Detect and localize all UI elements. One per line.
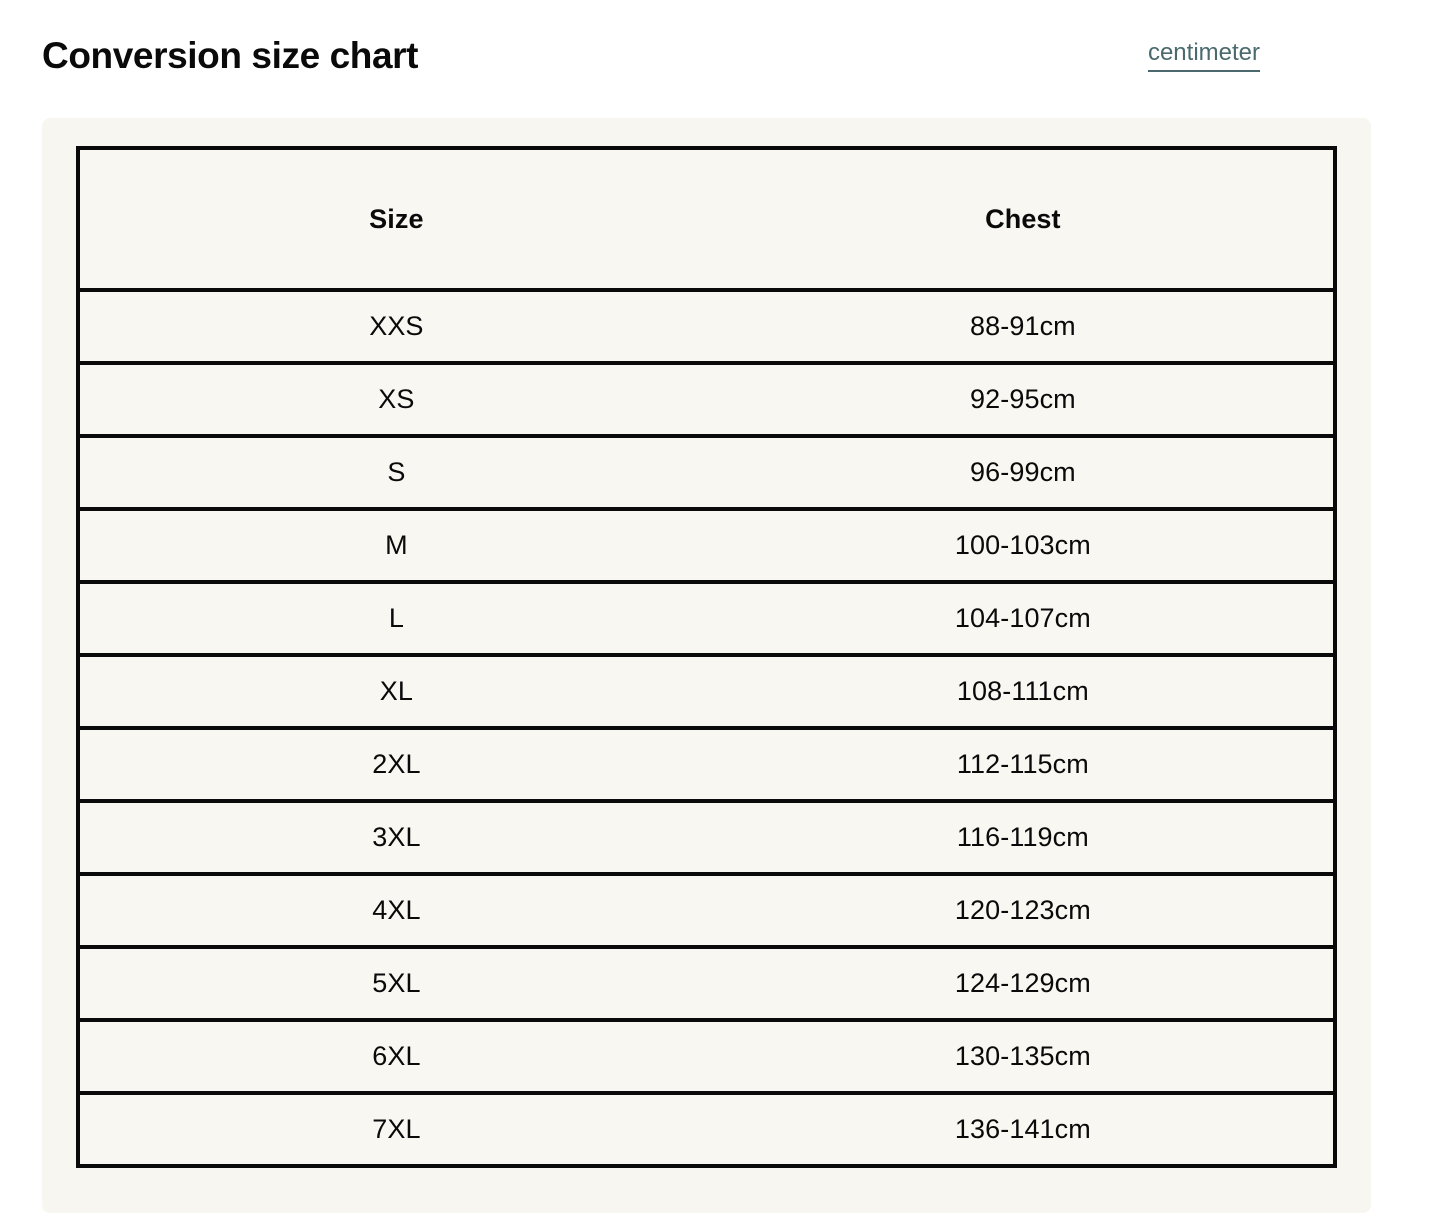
cell-chest: 104-107cm [713, 582, 1335, 655]
cell-size: 4XL [78, 874, 713, 947]
cell-size: XS [78, 363, 713, 436]
cell-chest-label: 108-111cm [713, 678, 1333, 705]
cell-size: XL [78, 655, 713, 728]
cell-chest-label: 124-129cm [713, 970, 1333, 997]
size-chart-page: Conversion size chart centimeter Size Ch… [0, 0, 1430, 1228]
unit-toggle-link[interactable]: centimeter [1148, 38, 1260, 72]
cell-size-label: 5XL [80, 970, 713, 997]
cell-chest: 136-141cm [713, 1093, 1335, 1166]
table-row: 7XL136-141cm [78, 1093, 1335, 1166]
size-chart-table: Size Chest XXS88-91cmXS92-95cmS96-99cmM1… [76, 146, 1337, 1168]
column-header-chest: Chest [713, 148, 1335, 290]
table-row: 5XL124-129cm [78, 947, 1335, 1020]
size-chart-card: Size Chest XXS88-91cmXS92-95cmS96-99cmM1… [42, 118, 1371, 1213]
cell-size-label: M [80, 532, 713, 559]
cell-chest: 124-129cm [713, 947, 1335, 1020]
cell-chest-label: 96-99cm [713, 459, 1333, 486]
cell-size-label: XS [80, 386, 713, 413]
cell-chest: 100-103cm [713, 509, 1335, 582]
table-header-row: Size Chest [78, 148, 1335, 290]
cell-chest: 112-115cm [713, 728, 1335, 801]
cell-chest-label: 112-115cm [713, 751, 1333, 778]
cell-size: 3XL [78, 801, 713, 874]
cell-chest-label: 92-95cm [713, 386, 1333, 413]
table-row: XL108-111cm [78, 655, 1335, 728]
cell-chest-label: 136-141cm [713, 1116, 1333, 1143]
cell-chest: 92-95cm [713, 363, 1335, 436]
cell-size-label: 4XL [80, 897, 713, 924]
cell-size: 5XL [78, 947, 713, 1020]
column-header-size-label: Size [80, 206, 713, 233]
table-row: S96-99cm [78, 436, 1335, 509]
table-row: XXS88-91cm [78, 290, 1335, 363]
cell-size-label: XL [80, 678, 713, 705]
cell-size-label: 7XL [80, 1116, 713, 1143]
table-row: 6XL130-135cm [78, 1020, 1335, 1093]
cell-size-label: 6XL [80, 1043, 713, 1070]
table-row: 4XL120-123cm [78, 874, 1335, 947]
cell-size-label: S [80, 459, 713, 486]
table-row: 3XL116-119cm [78, 801, 1335, 874]
table-row: XS92-95cm [78, 363, 1335, 436]
cell-chest: 130-135cm [713, 1020, 1335, 1093]
cell-size-label: 2XL [80, 751, 713, 778]
cell-size: S [78, 436, 713, 509]
cell-size: 7XL [78, 1093, 713, 1166]
cell-size: 2XL [78, 728, 713, 801]
cell-size-label: XXS [80, 313, 713, 340]
cell-chest-label: 120-123cm [713, 897, 1333, 924]
table-row: L104-107cm [78, 582, 1335, 655]
cell-size: 6XL [78, 1020, 713, 1093]
cell-chest-label: 100-103cm [713, 532, 1333, 559]
cell-chest-label: 104-107cm [713, 605, 1333, 632]
table-row: 2XL112-115cm [78, 728, 1335, 801]
table-body: XXS88-91cmXS92-95cmS96-99cmM100-103cmL10… [78, 290, 1335, 1166]
cell-size: XXS [78, 290, 713, 363]
column-header-size: Size [78, 148, 713, 290]
page-header: Conversion size chart centimeter [0, 0, 1430, 118]
page-title: Conversion size chart [42, 34, 418, 78]
column-header-chest-label: Chest [713, 206, 1333, 233]
cell-size-label: L [80, 605, 713, 632]
table-header: Size Chest [78, 148, 1335, 290]
cell-chest: 116-119cm [713, 801, 1335, 874]
cell-chest: 96-99cm [713, 436, 1335, 509]
cell-size: L [78, 582, 713, 655]
cell-chest: 108-111cm [713, 655, 1335, 728]
cell-chest: 120-123cm [713, 874, 1335, 947]
cell-size: M [78, 509, 713, 582]
cell-chest: 88-91cm [713, 290, 1335, 363]
table-row: M100-103cm [78, 509, 1335, 582]
cell-size-label: 3XL [80, 824, 713, 851]
cell-chest-label: 88-91cm [713, 313, 1333, 340]
cell-chest-label: 116-119cm [713, 824, 1333, 851]
cell-chest-label: 130-135cm [713, 1043, 1333, 1070]
